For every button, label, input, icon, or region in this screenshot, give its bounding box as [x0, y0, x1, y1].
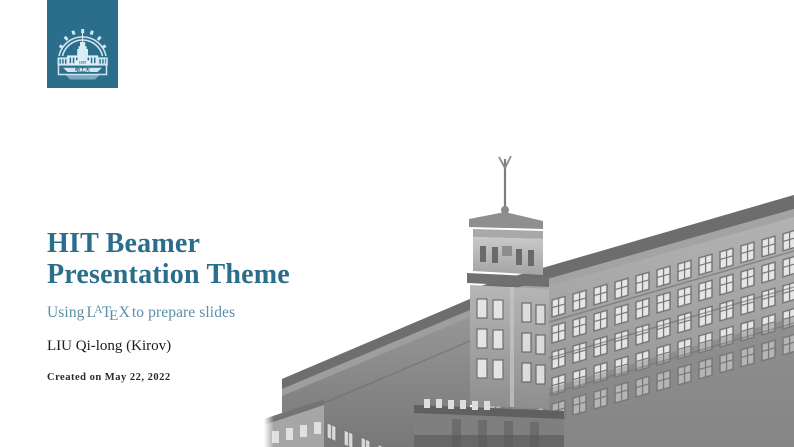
latex-logo: LATEX	[87, 304, 130, 322]
hit-main-building-photo	[264, 147, 794, 447]
author-name: LIU Qi-long (Kirov)	[47, 338, 290, 355]
slide-subtitle: Using LATEX to prepare slides	[47, 304, 290, 322]
subtitle-prefix: Using	[47, 304, 85, 322]
hit-university-emblem: 1920 哈工大	[47, 0, 118, 88]
subtitle-suffix: to prepare slides	[132, 304, 235, 322]
title-slide: 1920 哈工大	[0, 0, 794, 447]
latex-letter-e: E	[109, 308, 118, 324]
creation-date: Created on May 22, 2022	[47, 372, 290, 383]
latex-letter-a: A	[94, 304, 102, 316]
title-text-block: HIT Beamer Presentation Theme Using LATE…	[47, 228, 290, 383]
latex-letter-x: X	[119, 304, 130, 321]
page-title: HIT Beamer Presentation Theme	[47, 228, 290, 290]
emblem-year-text: 1920	[79, 61, 87, 65]
building-illustration	[264, 147, 794, 447]
hit-emblem-mark: 1920 哈工大	[47, 0, 118, 88]
emblem-chinese-text: 哈工大	[75, 66, 90, 73]
